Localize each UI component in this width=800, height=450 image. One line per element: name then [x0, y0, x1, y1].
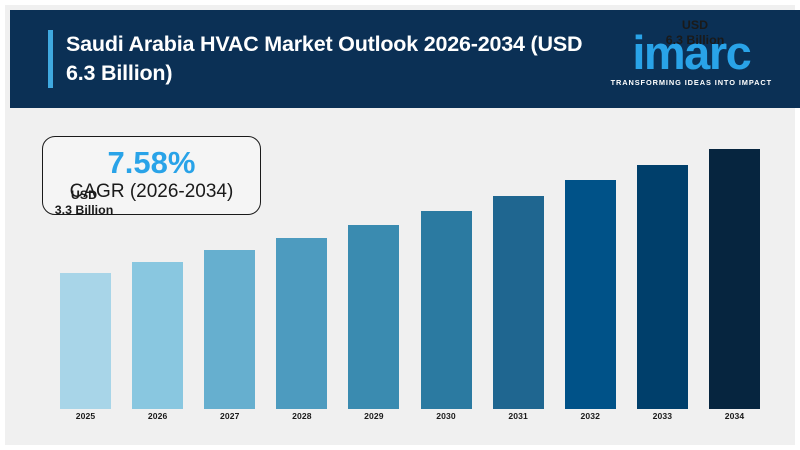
- bar-2032: [565, 180, 616, 409]
- x-tick-2034: 2034: [709, 411, 760, 421]
- bar-2031: [493, 196, 544, 409]
- bar-2027: [204, 250, 255, 409]
- bar-column: [204, 120, 255, 409]
- bar-column: [348, 120, 399, 409]
- x-tick-2029: 2029: [348, 411, 399, 421]
- title-accent-bar: [48, 30, 53, 87]
- logo-tagline: TRANSFORMING IDEAS INTO IMPACT: [611, 78, 772, 87]
- x-tick-2032: 2032: [565, 411, 616, 421]
- bar-2028: [276, 238, 327, 409]
- page-title: Saudi Arabia HVAC Market Outlook 2026-20…: [66, 30, 596, 87]
- last-value-callout: USD 6.3 Billion: [640, 18, 750, 49]
- bar-2030: [421, 211, 472, 409]
- bar-chart: 2025202620272028202920302031203220332034: [60, 120, 760, 412]
- x-axis-labels: 2025202620272028202920302031203220332034: [60, 411, 760, 427]
- bar-column: [421, 120, 472, 409]
- x-tick-2030: 2030: [421, 411, 472, 421]
- infographic-canvas: Saudi Arabia HVAC Market Outlook 2026-20…: [0, 0, 800, 450]
- x-tick-2028: 2028: [276, 411, 327, 421]
- bar-2034: [709, 149, 760, 409]
- bar-column: [60, 120, 111, 409]
- bar-column: [493, 120, 544, 409]
- bar-2033: [637, 165, 688, 409]
- bar-column: [637, 120, 688, 409]
- bar-column: [709, 120, 760, 409]
- bar-2025: [60, 273, 111, 409]
- bar-column: [132, 120, 183, 409]
- bar-2029: [348, 225, 399, 409]
- x-tick-2026: 2026: [132, 411, 183, 421]
- plot-area: [60, 120, 760, 409]
- bar-column: [565, 120, 616, 409]
- bar-column: [276, 120, 327, 409]
- x-tick-2027: 2027: [204, 411, 255, 421]
- x-tick-2031: 2031: [493, 411, 544, 421]
- x-tick-2025: 2025: [60, 411, 111, 421]
- first-value-callout: USD 3.3 Billion: [29, 188, 139, 219]
- bar-2026: [132, 262, 183, 409]
- x-tick-2033: 2033: [637, 411, 688, 421]
- title-group: Saudi Arabia HVAC Market Outlook 2026-20…: [48, 30, 611, 87]
